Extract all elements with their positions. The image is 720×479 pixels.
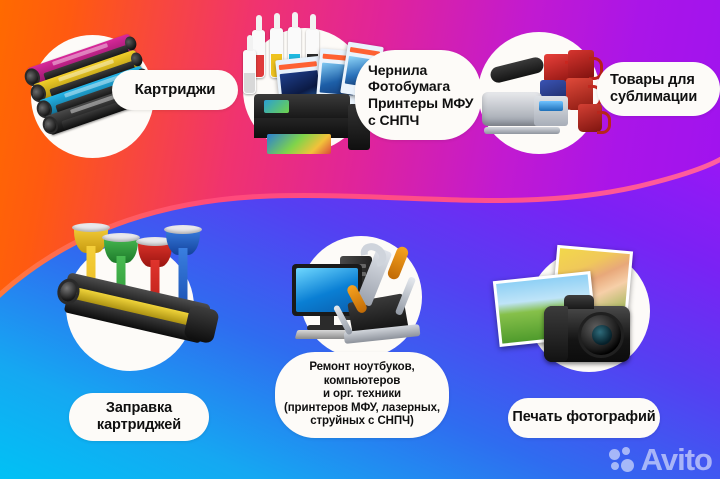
cartridges-label-pill[interactable]: Картриджи	[112, 70, 238, 110]
computer-repair-tools-icon	[288, 244, 436, 356]
sublimation-label-pill[interactable]: Товары для сублимации	[597, 62, 720, 116]
repair-line-5: струйных с СНПЧ)	[284, 415, 440, 429]
toner-refill-paint-icon	[52, 222, 216, 368]
ink-line-4: с СНПЧ	[368, 112, 473, 129]
refill-label-pill[interactable]: Заправка картриджей	[69, 393, 209, 441]
refill-line-1: Заправка	[97, 400, 181, 417]
photo-print-label-pill[interactable]: Печать фотографий	[508, 398, 660, 438]
refill-line-2: картриджей	[97, 417, 181, 434]
sublimation-line-2: сублимации	[610, 89, 697, 106]
cartridges-label: Картриджи	[135, 81, 216, 99]
camera-photos-icon	[492, 248, 660, 368]
photo-print-label: Печать фотографий	[512, 409, 655, 426]
repair-line-1: Ремонт ноутбуков,	[284, 361, 440, 375]
mug-heat-press-icon	[482, 48, 608, 140]
repair-label-pill[interactable]: Ремонт ноутбуков, компьютеров и орг. тех…	[275, 352, 449, 438]
ink-printers-label-pill[interactable]: Чернила Фотобумага Принтеры МФУ с СНПЧ	[355, 50, 481, 140]
ink-line-2: Фотобумага	[368, 78, 473, 95]
sublimation-line-1: Товары для	[610, 72, 697, 89]
repair-line-3: и орг. техники	[284, 388, 440, 402]
repair-line-2: компьютеров	[284, 375, 440, 389]
ink-line-3: Принтеры МФУ	[368, 95, 473, 112]
promo-poster: Картриджи Чернила Фотобума	[0, 0, 720, 479]
ink-line-1: Чернила	[368, 62, 473, 79]
repair-line-4: (принтеров МФУ, лазерных,	[284, 402, 440, 416]
